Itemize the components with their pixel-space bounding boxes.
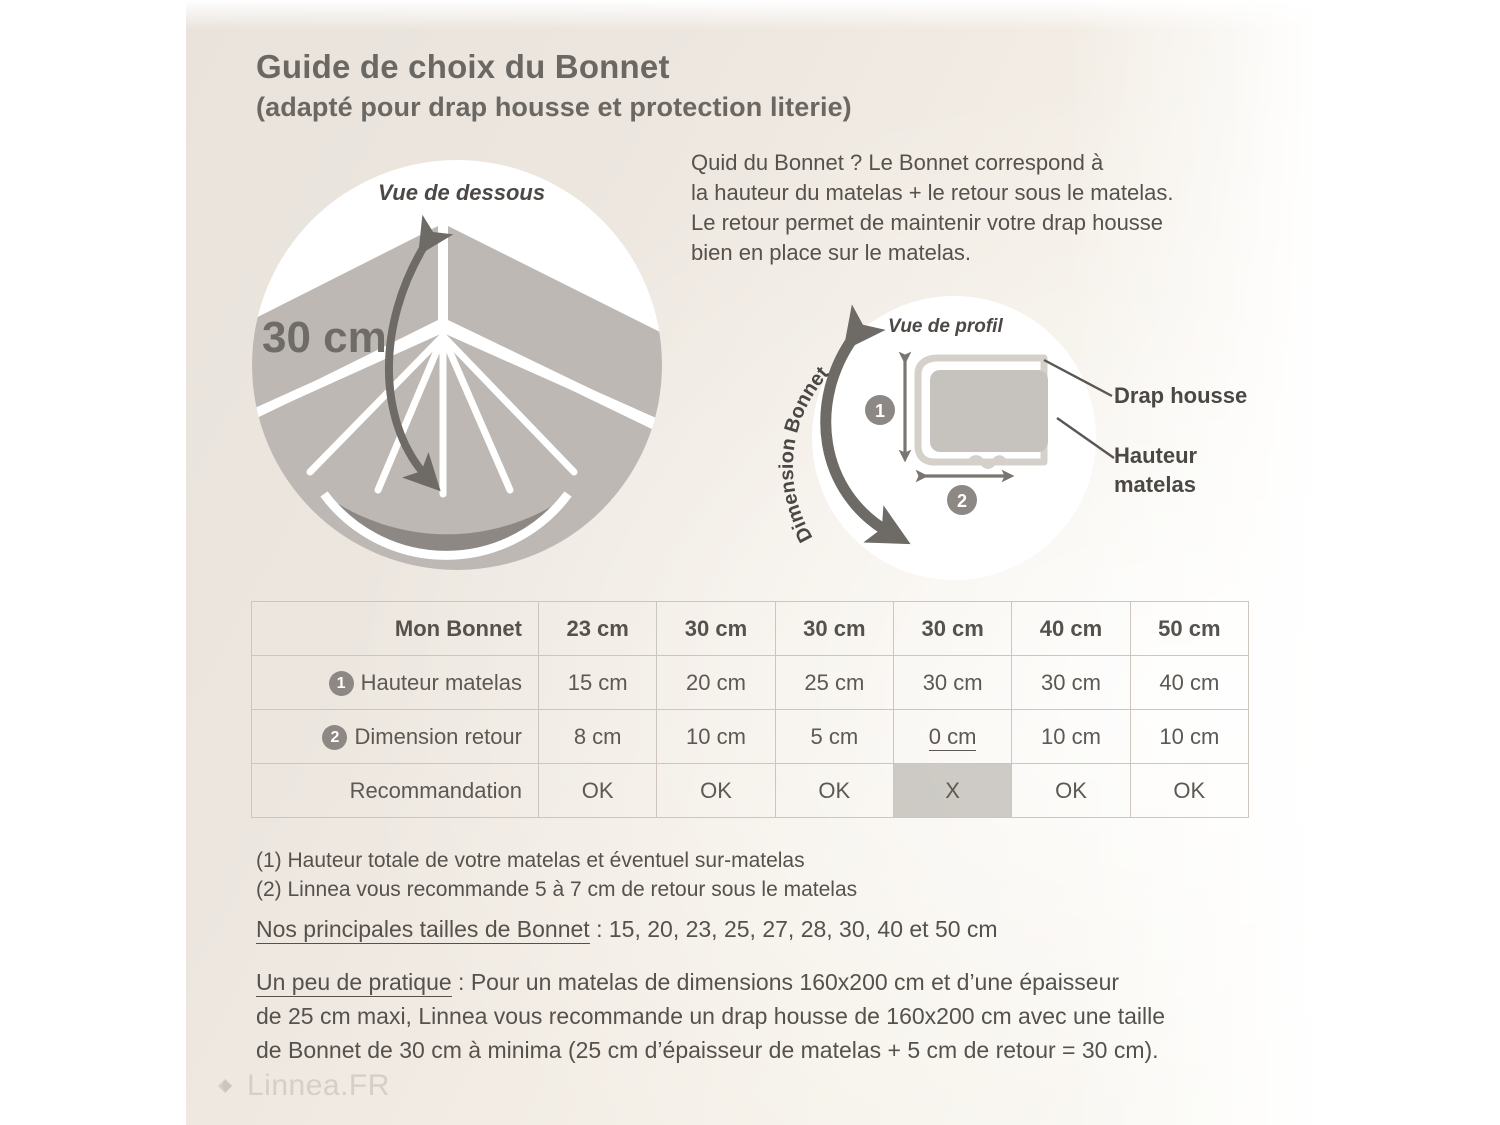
intro-line-4: bien en place sur le matelas.: [691, 238, 1261, 268]
table-cell: OK: [657, 764, 775, 818]
poster-canvas: Guide de choix du Bonnet (adapté pour dr…: [0, 0, 1500, 1125]
table-cell: 0 cm: [893, 710, 1011, 764]
available-sizes-heading: Nos principales tailles de Bonnet: [256, 916, 590, 944]
table-row: 2Dimension retour8 cm10 cm5 cm0 cm10 cm1…: [252, 710, 1249, 764]
bonnet-comparison-table: Mon Bonnet23 cm30 cm30 cm30 cm40 cm50 cm…: [251, 601, 1249, 818]
table-cell: 50 cm: [1130, 602, 1248, 656]
intro-line-1: Quid du Bonnet ? Le Bonnet correspond à: [691, 148, 1261, 178]
intro-line-2: la hauteur du matelas + le retour sous l…: [691, 178, 1261, 208]
table-cell: 25 cm: [775, 656, 893, 710]
page-subtitle: (adapté pour drap housse et protection l…: [256, 92, 1156, 123]
table-cell: OK: [775, 764, 893, 818]
table-cell: 10 cm: [1130, 710, 1248, 764]
table-cell: 20 cm: [657, 656, 775, 710]
practical-line-2: de 25 cm maxi, Linnea vous recommande un…: [256, 999, 1256, 1033]
table-cell: 30 cm: [893, 656, 1011, 710]
row-badge-2: 2: [322, 725, 347, 750]
table-row-label-text: Dimension retour: [354, 724, 522, 749]
practical-line-1: Un peu de pratique : Pour un matelas de …: [256, 965, 1256, 999]
table-cell: 40 cm: [1130, 656, 1248, 710]
table-cell: 40 cm: [1012, 602, 1130, 656]
table-row-label-text: Hauteur matelas: [361, 670, 522, 695]
table-row: 1Hauteur matelas15 cm20 cm25 cm30 cm30 c…: [252, 656, 1249, 710]
intro-paragraph: Quid du Bonnet ? Le Bonnet correspond à …: [691, 148, 1261, 268]
bottom-view-diagram: [252, 160, 662, 570]
practical-line-1-rest: : Pour un matelas de dimensions 160x200 …: [452, 969, 1119, 995]
table-cell: OK: [539, 764, 657, 818]
callout-hauteur-line2: matelas: [1114, 470, 1197, 499]
bottom-view-caption: Vue de dessous: [378, 180, 545, 206]
top-fade: [186, 0, 1313, 30]
table-cell: 8 cm: [539, 710, 657, 764]
profile-marker-2: 2: [947, 485, 977, 515]
footnote-2: (2) Linnea vous recommande 5 à 7 cm de r…: [256, 875, 1156, 904]
available-sizes-values: : 15, 20, 23, 25, 27, 28, 30, 40 et 50 c…: [590, 916, 998, 942]
table-cell: 30 cm: [1012, 656, 1130, 710]
table-row-label-text: Recommandation: [350, 778, 522, 803]
row-badge-1: 1: [329, 671, 354, 696]
table-cell: 10 cm: [657, 710, 775, 764]
table-cell: 23 cm: [539, 602, 657, 656]
practical-example: Un peu de pratique : Pour un matelas de …: [256, 965, 1256, 1067]
bonnet-size-label: 30 cm: [262, 313, 387, 363]
footnote-1: (1) Hauteur totale de votre matelas et é…: [256, 846, 1156, 875]
table-cell-underlined: 0 cm: [929, 724, 977, 751]
profile-view-caption: Vue de profil: [888, 316, 1003, 338]
table-cell: 5 cm: [775, 710, 893, 764]
table-cell: 10 cm: [1012, 710, 1130, 764]
practical-line-3: de Bonnet de 30 cm à minima (25 cm d’épa…: [256, 1033, 1256, 1067]
mattress-block: [930, 370, 1048, 452]
profile-marker-2-label: 2: [957, 491, 967, 511]
table-cell: 30 cm: [775, 602, 893, 656]
callout-hauteur-matelas: Hauteur matelas: [1114, 441, 1197, 499]
callout-hauteur-line1: Hauteur: [1114, 441, 1197, 470]
table-row-label-text: Mon Bonnet: [395, 616, 522, 641]
table-cell: 30 cm: [657, 602, 775, 656]
table-row-label: 1Hauteur matelas: [252, 656, 539, 710]
table-cell: 15 cm: [539, 656, 657, 710]
available-sizes-line: Nos principales tailles de Bonnet : 15, …: [256, 916, 1236, 943]
linnea-logo[interactable]: Linnea.FR: [212, 1069, 390, 1103]
table-row-label: Recommandation: [252, 764, 539, 818]
profile-view-diagram: 1 2 Dimension Bonnet: [812, 296, 1096, 580]
intro-line-3: Le retour permet de maintenir votre drap…: [691, 208, 1261, 238]
table-cell: OK: [1012, 764, 1130, 818]
footnotes: (1) Hauteur totale de votre matelas et é…: [256, 846, 1156, 904]
table-body: Mon Bonnet23 cm30 cm30 cm30 cm40 cm50 cm…: [252, 602, 1249, 818]
table-row: Mon Bonnet23 cm30 cm30 cm30 cm40 cm50 cm: [252, 602, 1249, 656]
profile-marker-1-label: 1: [875, 401, 885, 421]
profile-marker-1: 1: [865, 395, 895, 425]
table-cell: X: [893, 764, 1011, 818]
table-row-label: Mon Bonnet: [252, 602, 539, 656]
callout-drap-housse: Drap housse: [1114, 383, 1247, 409]
table-row-label: 2Dimension retour: [252, 710, 539, 764]
table-row: RecommandationOKOKOKXOKOK: [252, 764, 1249, 818]
table-cell: 30 cm: [893, 602, 1011, 656]
page-title: Guide de choix du Bonnet: [256, 48, 1156, 86]
diamond-arrow-icon: [212, 1073, 238, 1099]
table-cell: OK: [1130, 764, 1248, 818]
linnea-logo-text: Linnea.FR: [247, 1069, 390, 1103]
practical-heading: Un peu de pratique: [256, 969, 452, 997]
